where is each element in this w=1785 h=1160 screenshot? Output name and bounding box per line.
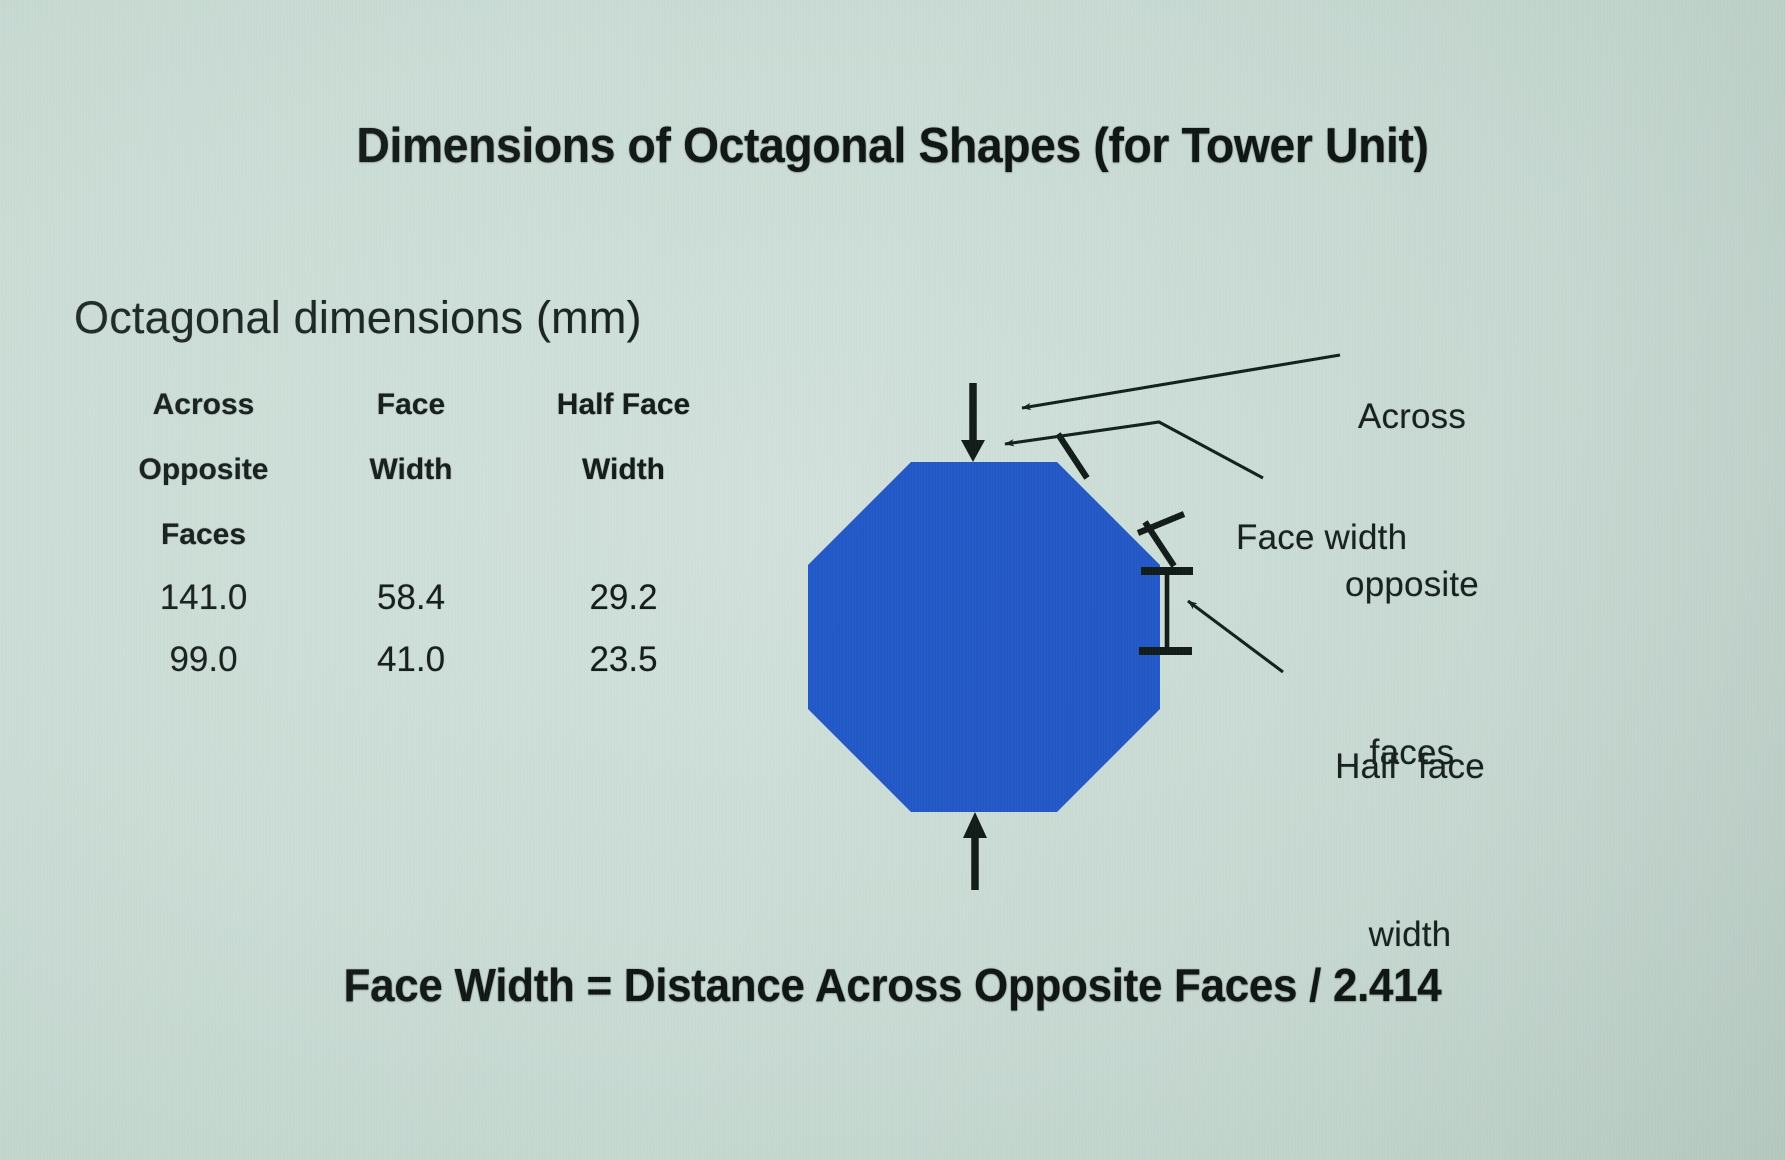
column-header-across-opposite-faces-line3: Faces	[96, 502, 311, 567]
column-header-half-face-width-line1: Half Face	[511, 372, 736, 437]
column-header-spacer-b	[311, 502, 511, 567]
slide-canvas: Dimensions of Octagonal Shapes (for Towe…	[0, 0, 1785, 1160]
column-header-face-width-line2: Width	[311, 437, 511, 502]
cell-across-opposite-faces: 99.0	[96, 629, 311, 691]
table-header-row-2: Opposite Width Width	[96, 437, 736, 502]
table-caption: Octagonal dimensions (mm)	[74, 292, 642, 344]
annotation-half-face-width-line-2: width	[1245, 907, 1575, 963]
cell-half-face-width: 29.2	[511, 567, 736, 629]
table-header-row-3: Faces	[96, 502, 736, 567]
table-header: Across Face Half Face Opposite Width Wid…	[96, 372, 736, 567]
cell-half-face-width: 23.5	[511, 629, 736, 691]
cell-face-width: 41.0	[311, 629, 511, 691]
cell-across-opposite-faces: 141.0	[96, 567, 311, 629]
table-row: 141.0 58.4 29.2	[96, 567, 736, 629]
column-header-across-opposite-faces-line1: Across	[96, 372, 311, 437]
column-header-across-opposite-faces-line2: Opposite	[96, 437, 311, 502]
top-face-arrow-icon	[961, 383, 985, 462]
slide-title: Dimensions of Octagonal Shapes (for Towe…	[49, 118, 1736, 174]
octagon-shape	[808, 462, 1160, 812]
column-header-half-face-width-line2: Width	[511, 437, 736, 502]
table-header-row-1: Across Face Half Face	[96, 372, 736, 437]
cell-face-width: 58.4	[311, 567, 511, 629]
table-body: 141.0 58.4 29.2 99.0 41.0 23.5	[96, 567, 736, 691]
annotation-half-face-width-line-1: Half face	[1245, 739, 1575, 795]
formula-text: Face Width = Distance Across Opposite Fa…	[40, 958, 1745, 1012]
annotation-face-width: Face width	[1236, 510, 1556, 566]
table-row: 99.0 41.0 23.5	[96, 629, 736, 691]
octagonal-dimensions-table: Across Face Half Face Opposite Width Wid…	[96, 372, 736, 691]
column-header-face-width-line1: Face	[311, 372, 511, 437]
annotation-across-line-1: Across	[1262, 389, 1562, 445]
column-header-spacer-c	[511, 502, 736, 567]
